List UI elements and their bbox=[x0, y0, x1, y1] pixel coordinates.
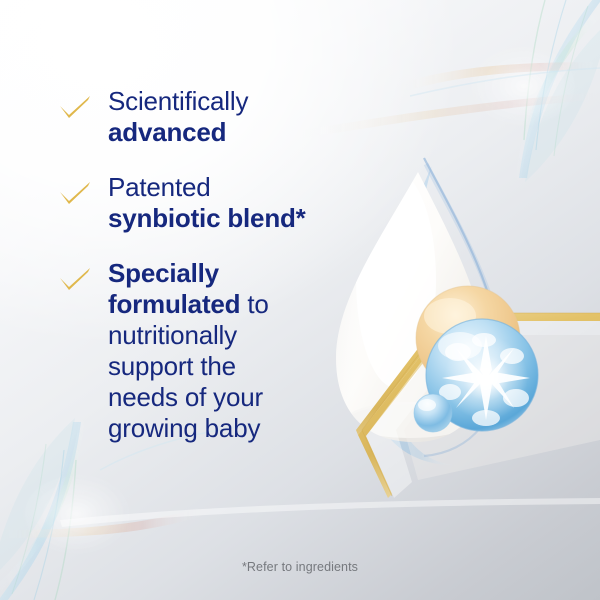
swoosh-lower-arc bbox=[60, 498, 600, 527]
benefit-text-2: Patented synbiotic blend* bbox=[108, 172, 308, 234]
list-item: Specially formulated to nutritionally su… bbox=[58, 258, 308, 444]
benefit-text-1-regular: Scientifically bbox=[108, 86, 248, 116]
promo-image: Scientifically advanced Patented synbiot… bbox=[0, 0, 600, 600]
benefit-text-2-bold: synbiotic blend* bbox=[108, 203, 306, 233]
footnote: *Refer to ingredients bbox=[0, 560, 600, 574]
swoosh-upper-arc bbox=[300, 68, 600, 138]
check-icon bbox=[58, 94, 92, 120]
droplet-blue-halo bbox=[353, 158, 502, 471]
swoosh-top-right bbox=[398, 0, 600, 182]
benefit-text-1: Scientifically advanced bbox=[108, 86, 308, 148]
benefits-list: Scientifically advanced Patented synbiot… bbox=[58, 86, 308, 468]
check-icon bbox=[58, 180, 92, 206]
amber-bubble bbox=[416, 286, 520, 390]
small-blue-sphere bbox=[414, 394, 452, 432]
check-icon bbox=[58, 266, 92, 292]
benefit-text-2-regular: Patented bbox=[108, 172, 211, 202]
benefit-text-3: Specially formulated to nutritionally su… bbox=[108, 258, 308, 444]
list-item: Scientifically advanced bbox=[58, 86, 308, 148]
droplet-artwork bbox=[300, 130, 600, 520]
blue-sparkle-sphere bbox=[426, 319, 538, 431]
list-item: Patented synbiotic blend* bbox=[58, 172, 308, 234]
benefit-text-3-bold: Specially formulated bbox=[108, 258, 240, 319]
benefit-text-1-bold: advanced bbox=[108, 117, 226, 147]
gold-ribbon bbox=[356, 313, 600, 498]
milk-droplet bbox=[320, 170, 500, 460]
